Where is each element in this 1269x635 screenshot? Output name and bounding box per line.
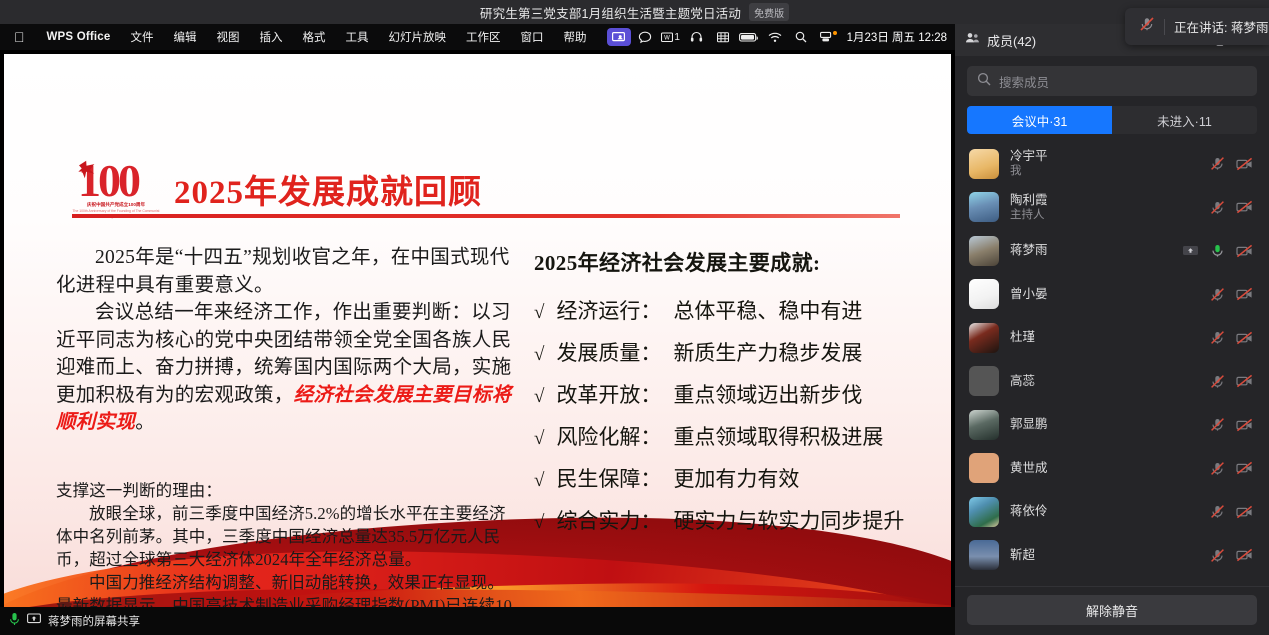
participant-controls bbox=[1210, 287, 1253, 302]
slide-paragraph-1: 2025年是“十四五”规划收官之年，在中国式现代化进程中具有重要意义。 bbox=[56, 244, 516, 299]
menu-item-format[interactable]: 格式 bbox=[292, 29, 335, 45]
slide-title: 2025年发展成就回顾 bbox=[174, 165, 482, 213]
slide-left-column: 2025年是“十四五”规划收官之年，在中国式现代化进程中具有重要意义。 会议总结… bbox=[56, 244, 516, 437]
slide-title-row: 100 庆祝中国共产党成立100周年 The 100th Anniversary… bbox=[72, 158, 482, 220]
participant-tabs: 会议中·31 未进入·11 bbox=[955, 102, 1269, 142]
achievement-key: 改革开放： bbox=[556, 375, 661, 416]
chat-search-icon[interactable] bbox=[633, 28, 657, 46]
menu-bar-clock[interactable]: 1月23日 周五 12:28 bbox=[841, 29, 947, 45]
participants-count-title: 成员(42) bbox=[987, 31, 1036, 50]
slide-left-column-lower: 支撑这一判断的理由： 放眼全球，前三季度中国经济5.2%的增长水平在主要经济体中… bbox=[56, 479, 518, 607]
participant-meta: 陶利霞 主持人 bbox=[1010, 193, 1199, 222]
grid-icon[interactable] bbox=[711, 28, 735, 46]
check-mark-icon: √ bbox=[534, 418, 544, 459]
list-item[interactable]: 蒋梦雨 bbox=[957, 229, 1267, 273]
menu-item-window[interactable]: 窗口 bbox=[510, 29, 553, 45]
list-item[interactable]: 靳超 bbox=[957, 534, 1267, 578]
list-item[interactable]: 杜瑾 bbox=[957, 316, 1267, 360]
logo-number: 100 bbox=[78, 158, 138, 204]
check-mark-icon: √ bbox=[534, 502, 544, 543]
achievement-key: 风险化解： bbox=[556, 417, 661, 458]
search-input[interactable]: 搜索成员 bbox=[967, 66, 1257, 96]
screen-share-icon[interactable] bbox=[27, 612, 41, 630]
shared-screen-stage: 100 庆祝中国共产党成立100周年 The 100th Anniversary… bbox=[0, 50, 955, 607]
menu-item-file[interactable]: 文件 bbox=[120, 29, 163, 45]
menu-item-help[interactable]: 帮助 bbox=[553, 29, 596, 45]
screen-share-icon[interactable] bbox=[1182, 244, 1199, 258]
list-item[interactable]: 冷宇平 我 bbox=[957, 142, 1267, 186]
speaking-indicator: 正在讲话: 蒋梦雨 bbox=[1125, 8, 1269, 45]
search-placeholder: 搜索成员 bbox=[999, 72, 1049, 91]
svg-text:W: W bbox=[664, 34, 670, 41]
logo-caption-cn: 庆祝中国共产党成立100周年 bbox=[87, 202, 145, 207]
achievement-item: √ 综合实力： 硬实力与软实力同步提升 bbox=[534, 501, 934, 543]
presentation-slide: 100 庆祝中国共产党成立100周年 The 100th Anniversary… bbox=[4, 54, 951, 607]
wps-badge-count: 1 bbox=[674, 32, 680, 43]
speaking-label: 正在讲话: 蒋梦雨 bbox=[1174, 17, 1268, 36]
mic-muted-icon[interactable] bbox=[1210, 200, 1225, 215]
achievement-value: 重点领域迈出新步伐 bbox=[673, 375, 862, 416]
unmute-button[interactable]: 解除静音 bbox=[967, 595, 1257, 625]
avatar bbox=[969, 192, 999, 222]
participant-controls bbox=[1210, 374, 1253, 389]
mic-muted-icon[interactable] bbox=[1210, 504, 1225, 519]
meeting-title-bar: 研究生第三党支部1月组织生活暨主题党日活动 免费版 bbox=[0, 0, 1269, 24]
check-mark-icon: √ bbox=[534, 460, 544, 501]
camera-off-icon[interactable] bbox=[1236, 461, 1253, 475]
participant-controls bbox=[1210, 461, 1253, 476]
tab-in-meeting[interactable]: 会议中·31 bbox=[967, 106, 1112, 134]
achievement-item: √ 风险化解： 重点领域取得积极进展 bbox=[534, 417, 934, 459]
apple-logo-icon[interactable]:  bbox=[14, 30, 25, 44]
wifi-icon[interactable] bbox=[763, 28, 787, 46]
slide-reason-1: 放眼全球，前三季度中国经济5.2%的增长水平在主要经济体中名列前茅。其中，三季度… bbox=[56, 502, 518, 571]
mic-muted-icon[interactable] bbox=[1210, 374, 1225, 389]
achievement-key: 综合实力： bbox=[556, 501, 661, 542]
menu-item-wps-office[interactable]: WPS Office bbox=[37, 31, 121, 43]
mic-muted-icon bbox=[1139, 16, 1155, 37]
participant-controls bbox=[1210, 200, 1253, 215]
mic-muted-icon[interactable] bbox=[1210, 287, 1225, 302]
participant-controls bbox=[1210, 330, 1253, 345]
participant-role: 主持人 bbox=[1010, 208, 1199, 222]
avatar bbox=[969, 236, 999, 266]
achievement-item: √ 民生保障： 更加有力有效 bbox=[534, 459, 934, 501]
slide-achievements-heading: 2025年经济社会发展主要成就: bbox=[534, 247, 934, 277]
participant-name: 冷宇平 bbox=[1010, 149, 1199, 164]
control-center-icon[interactable] bbox=[815, 28, 839, 46]
camera-off-icon[interactable] bbox=[1236, 287, 1253, 301]
achievement-key: 民生保障： bbox=[556, 459, 661, 500]
participant-name: 郭显鹏 bbox=[1010, 417, 1199, 432]
mic-muted-icon[interactable] bbox=[1210, 156, 1225, 171]
camera-off-icon[interactable] bbox=[1236, 244, 1253, 258]
meeting-title: 研究生第三党支部1月组织生活暨主题党日活动 bbox=[480, 3, 741, 22]
mic-muted-icon[interactable] bbox=[1210, 330, 1225, 345]
slide-paragraph-2: 会议总结一年来经济工作，作出重要判断：以习近平同志为核心的党中央团结带领全党全国… bbox=[56, 299, 516, 437]
mic-muted-icon[interactable] bbox=[1210, 417, 1225, 432]
check-mark-icon: √ bbox=[534, 334, 544, 375]
speaking-divider bbox=[1164, 19, 1165, 35]
battery-icon[interactable] bbox=[737, 28, 761, 46]
avatar bbox=[969, 497, 999, 527]
screen-share-icon[interactable] bbox=[607, 28, 631, 46]
list-item[interactable]: 郭显鹏 bbox=[957, 403, 1267, 447]
menu-item-slideshow[interactable]: 幻灯片放映 bbox=[378, 29, 456, 45]
camera-off-icon[interactable] bbox=[1236, 374, 1253, 388]
free-version-badge: 免费版 bbox=[749, 3, 789, 21]
mic-muted-icon[interactable] bbox=[1210, 548, 1225, 563]
participant-search-wrapper: 搜索成员 bbox=[955, 56, 1269, 102]
slide-title-underline bbox=[72, 214, 900, 218]
check-mark-icon: √ bbox=[534, 292, 544, 333]
participant-name: 曾小晏 bbox=[1010, 287, 1199, 302]
avatar bbox=[969, 149, 999, 179]
achievement-item: √ 发展质量： 新质生产力稳步发展 bbox=[534, 333, 934, 375]
slide-right-column: 2025年经济社会发展主要成就: √ 经济运行： 总体平稳、稳中有进 √ 发展质… bbox=[534, 247, 934, 543]
participant-name: 高蕊 bbox=[1010, 374, 1199, 389]
achievement-value: 更加有力有效 bbox=[673, 459, 799, 500]
camera-off-icon[interactable] bbox=[1236, 505, 1253, 519]
menu-item-edit[interactable]: 编辑 bbox=[163, 29, 206, 45]
participant-meta: 冷宇平 我 bbox=[1010, 149, 1199, 178]
avatar bbox=[969, 410, 999, 440]
macos-menu-bar:  WPS Office 文件 编辑 视图 插入 格式 工具 幻灯片放映 工作区… bbox=[0, 24, 955, 50]
participant-name: 蒋依伶 bbox=[1010, 504, 1199, 519]
mic-muted-icon[interactable] bbox=[1210, 461, 1225, 476]
status-dot bbox=[833, 31, 837, 35]
people-icon bbox=[965, 31, 980, 49]
achievement-value: 硬实力与软实力同步提升 bbox=[673, 501, 904, 542]
search-icon bbox=[977, 72, 991, 91]
participant-meta: 杜瑾 bbox=[1010, 330, 1199, 345]
list-item[interactable]: 曾小晏 bbox=[957, 273, 1267, 317]
headphones-icon[interactable] bbox=[685, 28, 709, 46]
achievement-item: √ 经济运行： 总体平稳、稳中有进 bbox=[534, 291, 934, 333]
menu-item-tools[interactable]: 工具 bbox=[335, 29, 378, 45]
participant-list[interactable]: 冷宇平 我 陶利霞 主持人 bbox=[955, 142, 1269, 586]
participant-role: 我 bbox=[1010, 164, 1199, 178]
participant-name: 蒋梦雨 bbox=[1010, 243, 1171, 258]
list-item[interactable]: 蒋依伶 bbox=[957, 490, 1267, 534]
achievement-key: 发展质量： bbox=[556, 333, 661, 374]
list-item[interactable]: 陶利霞 主持人 bbox=[957, 186, 1267, 230]
menu-item-view[interactable]: 视图 bbox=[206, 29, 249, 45]
list-item[interactable]: 黄世成 bbox=[957, 447, 1267, 491]
participant-controls bbox=[1210, 417, 1253, 432]
participant-meta: 黄世成 bbox=[1010, 461, 1199, 476]
camera-off-icon[interactable] bbox=[1236, 157, 1253, 171]
participants-panel: 成员(42) 搜索成员 会议中·31 未进入·11 bbox=[955, 24, 1269, 635]
avatar bbox=[969, 279, 999, 309]
participant-name: 杜瑾 bbox=[1010, 330, 1199, 345]
camera-off-icon[interactable] bbox=[1236, 418, 1253, 432]
participant-meta: 靳超 bbox=[1010, 548, 1199, 563]
achievement-value: 总体平稳、稳中有进 bbox=[673, 291, 862, 332]
avatar bbox=[969, 540, 999, 570]
menu-item-workspace[interactable]: 工作区 bbox=[456, 29, 511, 45]
menu-item-insert[interactable]: 插入 bbox=[249, 29, 292, 45]
tab-not-joined[interactable]: 未进入·11 bbox=[1112, 106, 1257, 134]
participant-meta: 高蕊 bbox=[1010, 374, 1199, 389]
achievement-value: 新质生产力稳步发展 bbox=[673, 333, 862, 374]
slide-paragraph-2-end: 。 bbox=[135, 412, 155, 433]
cpc-100th-anniversary-logo-icon: 100 庆祝中国共产党成立100周年 The 100th Anniversary… bbox=[72, 158, 160, 220]
achievement-value: 重点领域取得积极进展 bbox=[673, 417, 883, 458]
spotlight-search-icon[interactable] bbox=[789, 28, 813, 46]
participant-controls bbox=[1210, 156, 1253, 171]
participant-name: 陶利霞 bbox=[1010, 193, 1199, 208]
participant-controls bbox=[1182, 243, 1253, 258]
participants-panel-footer: 解除静音 bbox=[955, 586, 1269, 635]
wps-icon[interactable]: W 1 bbox=[659, 28, 683, 46]
slide-reason-heading: 支撑这一判断的理由： bbox=[56, 479, 518, 502]
achievement-item: √ 改革开放： 重点领域迈出新步伐 bbox=[534, 375, 934, 417]
participant-meta: 蒋梦雨 bbox=[1010, 243, 1171, 258]
screen-share-status-bar: 蒋梦雨的屏幕共享 bbox=[0, 607, 955, 635]
screen-share-label: 蒋梦雨的屏幕共享 bbox=[48, 613, 140, 629]
avatar bbox=[969, 453, 999, 483]
camera-off-icon[interactable] bbox=[1236, 548, 1253, 562]
list-item[interactable]: 高蕊 bbox=[957, 360, 1267, 404]
participant-meta: 蒋依伶 bbox=[1010, 504, 1199, 519]
slide-reason-2: 中国力推经济结构调整、新旧动能转换，效果正在显现。最新数据显示，中国高技术制造业… bbox=[56, 571, 518, 607]
participant-name: 黄世成 bbox=[1010, 461, 1199, 476]
menu-bar-tray: W 1 1月23日 周五 12:28 bbox=[607, 28, 955, 46]
camera-off-icon[interactable] bbox=[1236, 331, 1253, 345]
participant-meta: 曾小晏 bbox=[1010, 287, 1199, 302]
check-mark-icon: √ bbox=[534, 376, 544, 417]
participant-controls bbox=[1210, 548, 1253, 563]
participant-controls bbox=[1210, 504, 1253, 519]
participant-meta: 郭显鹏 bbox=[1010, 417, 1199, 432]
mic-on-icon[interactable] bbox=[1210, 243, 1225, 258]
avatar bbox=[969, 366, 999, 396]
mic-on-green-icon[interactable] bbox=[9, 612, 20, 631]
participant-name: 靳超 bbox=[1010, 548, 1199, 563]
achievement-key: 经济运行： bbox=[556, 291, 661, 332]
camera-off-icon[interactable] bbox=[1236, 200, 1253, 214]
avatar bbox=[969, 323, 999, 353]
